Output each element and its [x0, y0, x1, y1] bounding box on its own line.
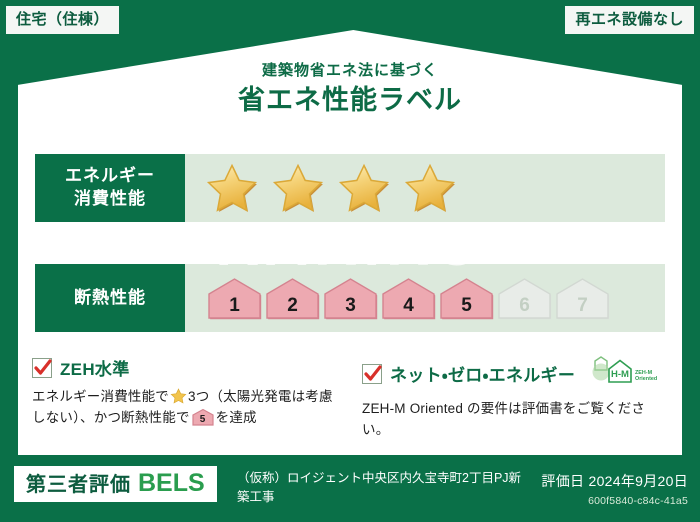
building-type-tag: 住宅（住棟）	[6, 6, 119, 34]
nze-description: ZEH-M Oriented の要件は評価書をご覧ください。	[362, 399, 672, 441]
insulation-label-line1: 断熱性能	[74, 287, 146, 310]
title-subtitle: 建築物省エネ法に基づく	[0, 62, 700, 80]
evaluation-date: 評価日 2024年9月20日	[541, 471, 688, 491]
title-block: 建築物省エネ法に基づく 省エネ性能ラベル	[0, 62, 700, 116]
energy-label-line2: 消費性能	[74, 188, 146, 211]
energy-performance-label-block: エネルギー 消費性能	[35, 154, 185, 222]
nze-check-head: ネット・ゼロ・エネルギー H-M ZEH-M Oriented	[362, 355, 672, 392]
energy-performance-row: エネルギー 消費性能	[35, 154, 665, 222]
star-icon-filled	[403, 162, 457, 214]
insulation-performance-label-block: 断熱性能	[35, 264, 185, 332]
inline-insulation-badge: 5	[192, 408, 214, 426]
zeh-check-head: ZEH水準	[32, 355, 342, 380]
insulation-performance-row: 断熱性能 1234567	[35, 264, 665, 332]
insulation-badge: 6	[497, 276, 552, 320]
footer: 第三者評価 BELS （仮称）ロイジェント中央区内久宝寺町2丁目PJ新築工事 評…	[0, 455, 700, 522]
zeh-title: ZEH水準	[60, 355, 130, 380]
star-icon-filled	[271, 162, 325, 214]
evaluation-info: 評価日 2024年9月20日 600f5840-c84c-41a5	[541, 471, 688, 507]
third-party-evaluation-text: 第三者評価	[26, 475, 131, 495]
star-icon-filled	[337, 162, 391, 214]
zeh-standard-section: ZEH水準 エネルギー消費性能で3つ（太陽光発電は考慮しない）、かつ断熱性能で5…	[32, 355, 342, 429]
zeh-desc-part3: を達成	[216, 410, 257, 425]
svg-text:H-M: H-M	[611, 369, 629, 380]
zeh-desc-part1: エネルギー消費性能で	[32, 389, 169, 404]
bels-plate: 第三者評価 BELS	[14, 466, 217, 502]
renewable-equipment-tag: 再エネ設備なし	[565, 6, 694, 34]
insulation-badge: 7	[555, 276, 610, 320]
star-rating	[185, 154, 665, 222]
property-name: （仮称）ロイジェント中央区内久宝寺町2丁目PJ新築工事	[237, 469, 527, 507]
insulation-badge-strip: 1234567	[207, 276, 610, 320]
zeh-m-oriented-logo: H-M ZEH-M Oriented	[587, 355, 663, 392]
insulation-badge: 3	[323, 276, 378, 320]
energy-label-line1: エネルギー	[65, 165, 155, 188]
bels-mark: BELS	[138, 471, 205, 496]
insulation-badge: 1	[207, 276, 262, 320]
zeh-checkbox-checked-icon	[32, 358, 52, 378]
net-zero-energy-section: ネット・ゼロ・エネルギー H-M ZEH-M Oriented ZEH-M Or…	[362, 355, 672, 441]
energy-performance-label: 住宅（住棟） 再エネ設備なし 建築物省エネ法に基づく 省エネ性能ラベル KARI…	[0, 0, 700, 522]
star-icon-filled	[205, 162, 259, 214]
insulation-badge: 5	[439, 276, 494, 320]
insulation-rating: 1234567	[185, 264, 665, 332]
insulation-badge: 4	[381, 276, 436, 320]
evaluation-id: 600f5840-c84c-41a5	[541, 495, 688, 507]
insulation-badge: 2	[265, 276, 320, 320]
inline-star-icon	[170, 388, 187, 404]
nze-checkbox-checked-icon	[362, 364, 382, 384]
zeh-description: エネルギー消費性能で3つ（太陽光発電は考慮しない）、かつ断熱性能で5を達成	[32, 387, 342, 429]
inline-badge-value: 5	[192, 415, 214, 425]
svg-text:Oriented: Oriented	[635, 376, 657, 382]
nze-title: ネット・ゼロ・エネルギー	[390, 361, 575, 386]
page-title: 省エネ性能ラベル	[0, 84, 700, 116]
